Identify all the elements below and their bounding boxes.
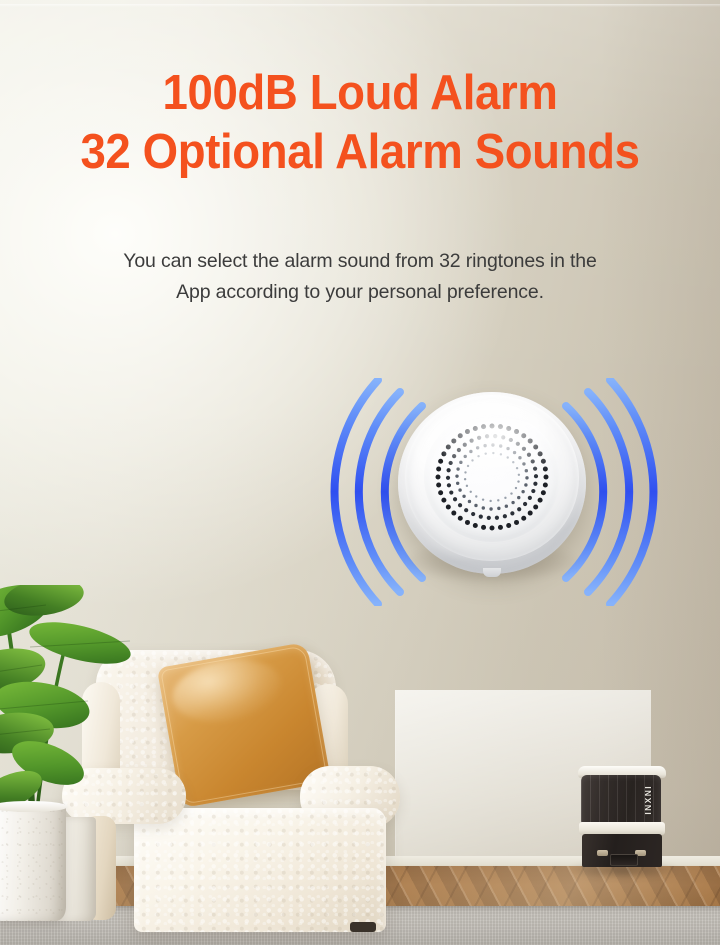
headline: 100dB Loud Alarm 32 Optional Alarm Sound… <box>25 64 695 182</box>
product-marketing-banner: 100dB Loud Alarm 32 Optional Alarm Sound… <box>0 0 720 945</box>
headline-line-1: 100dB Loud Alarm <box>25 64 695 123</box>
siren-speaker-face <box>424 412 560 542</box>
subheadline-line-2: App according to your personal preferenc… <box>36 277 684 308</box>
plant-pot-texture <box>0 803 66 921</box>
siren-outer-body <box>398 392 586 574</box>
siren-bottom-nub <box>483 568 501 577</box>
potted-plant <box>0 585 164 915</box>
plant-pot-main <box>0 803 66 921</box>
dock-docking-slot <box>610 854 638 866</box>
chair-foot-right <box>350 922 376 932</box>
siren-gloss-highlight <box>442 418 560 480</box>
chair-seat-texture <box>134 808 386 932</box>
siren-alarm-device <box>398 392 586 584</box>
pillow-seam <box>160 645 327 804</box>
subheadline-line-1: You can select the alarm sound from 32 r… <box>36 246 684 277</box>
dock-charging-pad-left <box>597 850 608 856</box>
headline-line-2: 32 Optional Alarm Sounds <box>25 123 695 182</box>
subheadline: You can select the alarm sound from 32 r… <box>36 246 684 308</box>
chair-seat-cushion <box>134 808 386 932</box>
robot-vacuum-dock: INXNI <box>578 766 670 870</box>
dock-base <box>582 834 662 867</box>
dock-dust-bin: INXNI <box>581 775 661 824</box>
dock-brand-logo: INXNI <box>643 785 653 815</box>
